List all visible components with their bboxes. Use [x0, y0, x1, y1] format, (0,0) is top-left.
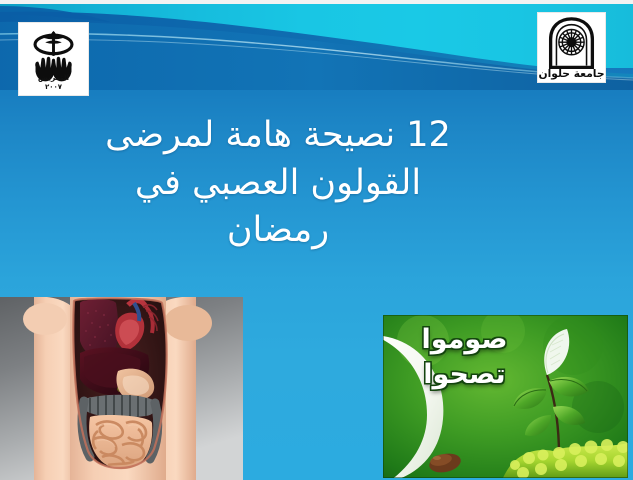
presentation-slide: التمريض ٢٠٠٧ — [0, 0, 633, 480]
ramadan-text-line-2: تصحوا — [397, 358, 532, 393]
ramadan-text-line-1: صوموا — [397, 323, 532, 358]
nursing-logo-caption-arabic: التمريض — [19, 74, 88, 82]
ramadan-fasting-poster: صوموا تصحوا — [383, 315, 628, 478]
helwan-university-logo: جامعة حلوان — [537, 12, 606, 83]
helwan-logo-caption: جامعة حلوان — [538, 67, 604, 80]
human-torso-anatomy-model — [0, 297, 243, 480]
ramadan-poster-text: صوموا تصحوا — [397, 323, 532, 392]
nursing-logo-caption-year: ٢٠٠٧ — [19, 84, 88, 91]
anatomy-illustration — [0, 297, 243, 480]
nursing-faculty-logo: التمريض ٢٠٠٧ — [18, 22, 89, 96]
helwan-university-emblem-icon: جامعة حلوان — [538, 13, 605, 82]
slide-title: 12 نصيحة هامة لمرضى القولون العصبي في رم… — [63, 112, 493, 255]
